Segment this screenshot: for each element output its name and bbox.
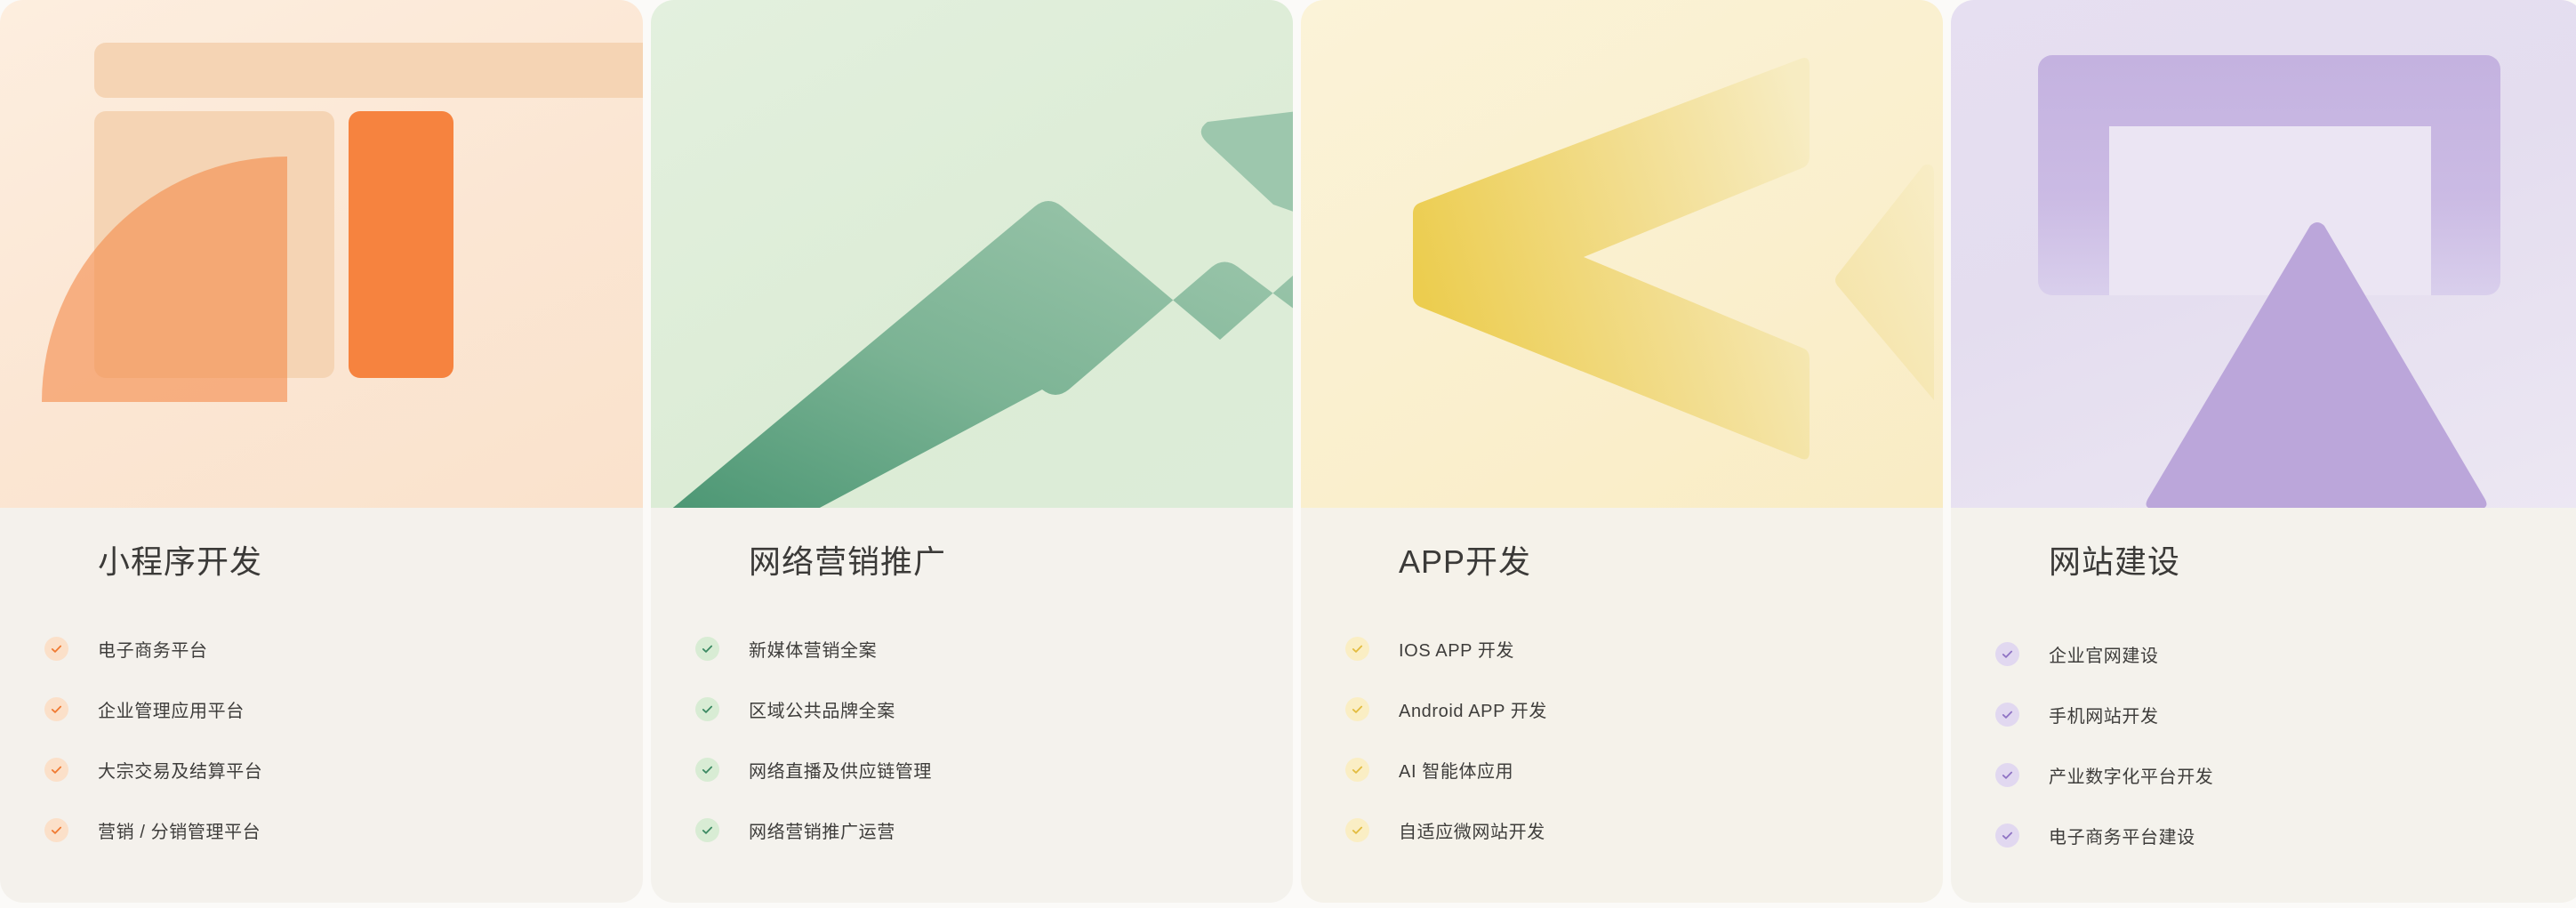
check-icon [1345,637,1369,661]
feature-list: 电子商务平台 企业管理应用平台 大宗交易及结算平台 [0,618,643,860]
check-icon [1995,763,2019,787]
check-icon [1345,697,1369,721]
list-item[interactable]: 电子商务平台 [0,618,643,679]
check-icon [44,758,68,782]
list-item[interactable]: IOS APP 开发 [1301,618,1943,679]
chevron-shape [1301,0,1943,508]
list-item[interactable]: 大宗交易及结算平台 [0,739,643,800]
check-icon [44,818,68,842]
list-item-label: 营销 / 分销管理平台 [98,817,261,843]
list-item[interactable]: 手机网站开发 [1951,684,2576,744]
list-item[interactable]: 区域公共品牌全案 [651,679,1293,739]
card-title: 网站建设 [2049,536,2180,583]
orange-rect-shape [349,111,453,378]
check-icon [695,758,719,782]
list-item-label: AI 智能体应用 [1399,757,1513,783]
list-item-label: 网络直播及供应链管理 [749,757,932,783]
list-item-label: 电子商务平台 [98,636,208,662]
list-item-label: Android APP 开发 [1399,696,1547,722]
triangle-shape [1951,0,2576,508]
chevron-illustration [1301,0,1943,508]
list-item-label: 网络营销推广运营 [749,817,895,843]
card-body: 网络营销推广 新媒体营销全案 区域公共品牌全案 [651,508,1293,903]
feature-list: IOS APP 开发 Android APP 开发 AI 智能体应用 [1301,618,1943,860]
list-item-label: 新媒体营销全案 [749,636,877,662]
list-item-label: 自适应微网站开发 [1399,817,1545,843]
list-item-label: 电子商务平台建设 [2049,823,2195,848]
list-item[interactable]: 产业数字化平台开发 [1951,744,2576,805]
check-icon [1995,642,2019,666]
zigzag-arrow-shape [651,0,1293,508]
list-item[interactable]: 企业官网建设 [1951,623,2576,684]
service-cards-grid: 小程序开发 电子商务平台 企业管理应用平台 [0,0,2576,908]
card-body: 小程序开发 电子商务平台 企业管理应用平台 [0,508,643,903]
quarter-circle-shape [42,157,287,402]
feature-list: 企业官网建设 手机网站开发 产业数字化平台开发 [1951,623,2576,865]
list-item-label: 企业管理应用平台 [98,696,245,722]
list-item[interactable]: AI 智能体应用 [1301,739,1943,800]
service-card-app-development[interactable]: APP开发 IOS APP 开发 Android APP 开发 [1301,0,1943,903]
list-item-label: 区域公共品牌全案 [749,696,895,722]
check-icon [1995,824,2019,848]
list-item-label: 手机网站开发 [2049,702,2159,727]
list-item-label: IOS APP 开发 [1399,636,1514,662]
check-icon [1345,818,1369,842]
feature-list: 新媒体营销全案 区域公共品牌全案 网络直播及供应链管理 [651,618,1293,860]
check-icon [44,637,68,661]
service-card-website-construction[interactable]: 网站建设 企业官网建设 手机网站开发 [1951,0,2576,903]
card-body: APP开发 IOS APP 开发 Android APP 开发 [1301,508,1943,903]
list-item[interactable]: 营销 / 分销管理平台 [0,800,643,860]
card-title: 小程序开发 [98,536,262,583]
list-item[interactable]: 网络直播及供应链管理 [651,739,1293,800]
card-body: 网站建设 企业官网建设 手机网站开发 [1951,508,2576,903]
list-item[interactable]: 企业管理应用平台 [0,679,643,739]
growth-arrow-illustration [651,0,1293,508]
list-item[interactable]: 新媒体营销全案 [651,618,1293,679]
list-item[interactable]: 网络营销推广运营 [651,800,1293,860]
check-icon [44,697,68,721]
check-icon [695,818,719,842]
check-icon [1345,758,1369,782]
check-icon [695,637,719,661]
monitor-illustration [1951,0,2576,508]
list-item[interactable]: Android APP 开发 [1301,679,1943,739]
service-card-mini-program[interactable]: 小程序开发 电子商务平台 企业管理应用平台 [0,0,643,903]
check-icon [1995,703,2019,727]
list-item-label: 企业官网建设 [2049,641,2159,667]
mini-program-illustration [0,0,643,508]
service-card-network-marketing[interactable]: 网络营销推广 新媒体营销全案 区域公共品牌全案 [651,0,1293,903]
list-item[interactable]: 电子商务平台建设 [1951,805,2576,865]
list-item-label: 产业数字化平台开发 [2049,762,2213,788]
card-title: APP开发 [1399,536,1531,583]
rounded-bar-shape [94,43,643,98]
list-item-label: 大宗交易及结算平台 [98,757,262,783]
card-title: 网络营销推广 [749,536,946,583]
list-item[interactable]: 自适应微网站开发 [1301,800,1943,860]
check-icon [695,697,719,721]
